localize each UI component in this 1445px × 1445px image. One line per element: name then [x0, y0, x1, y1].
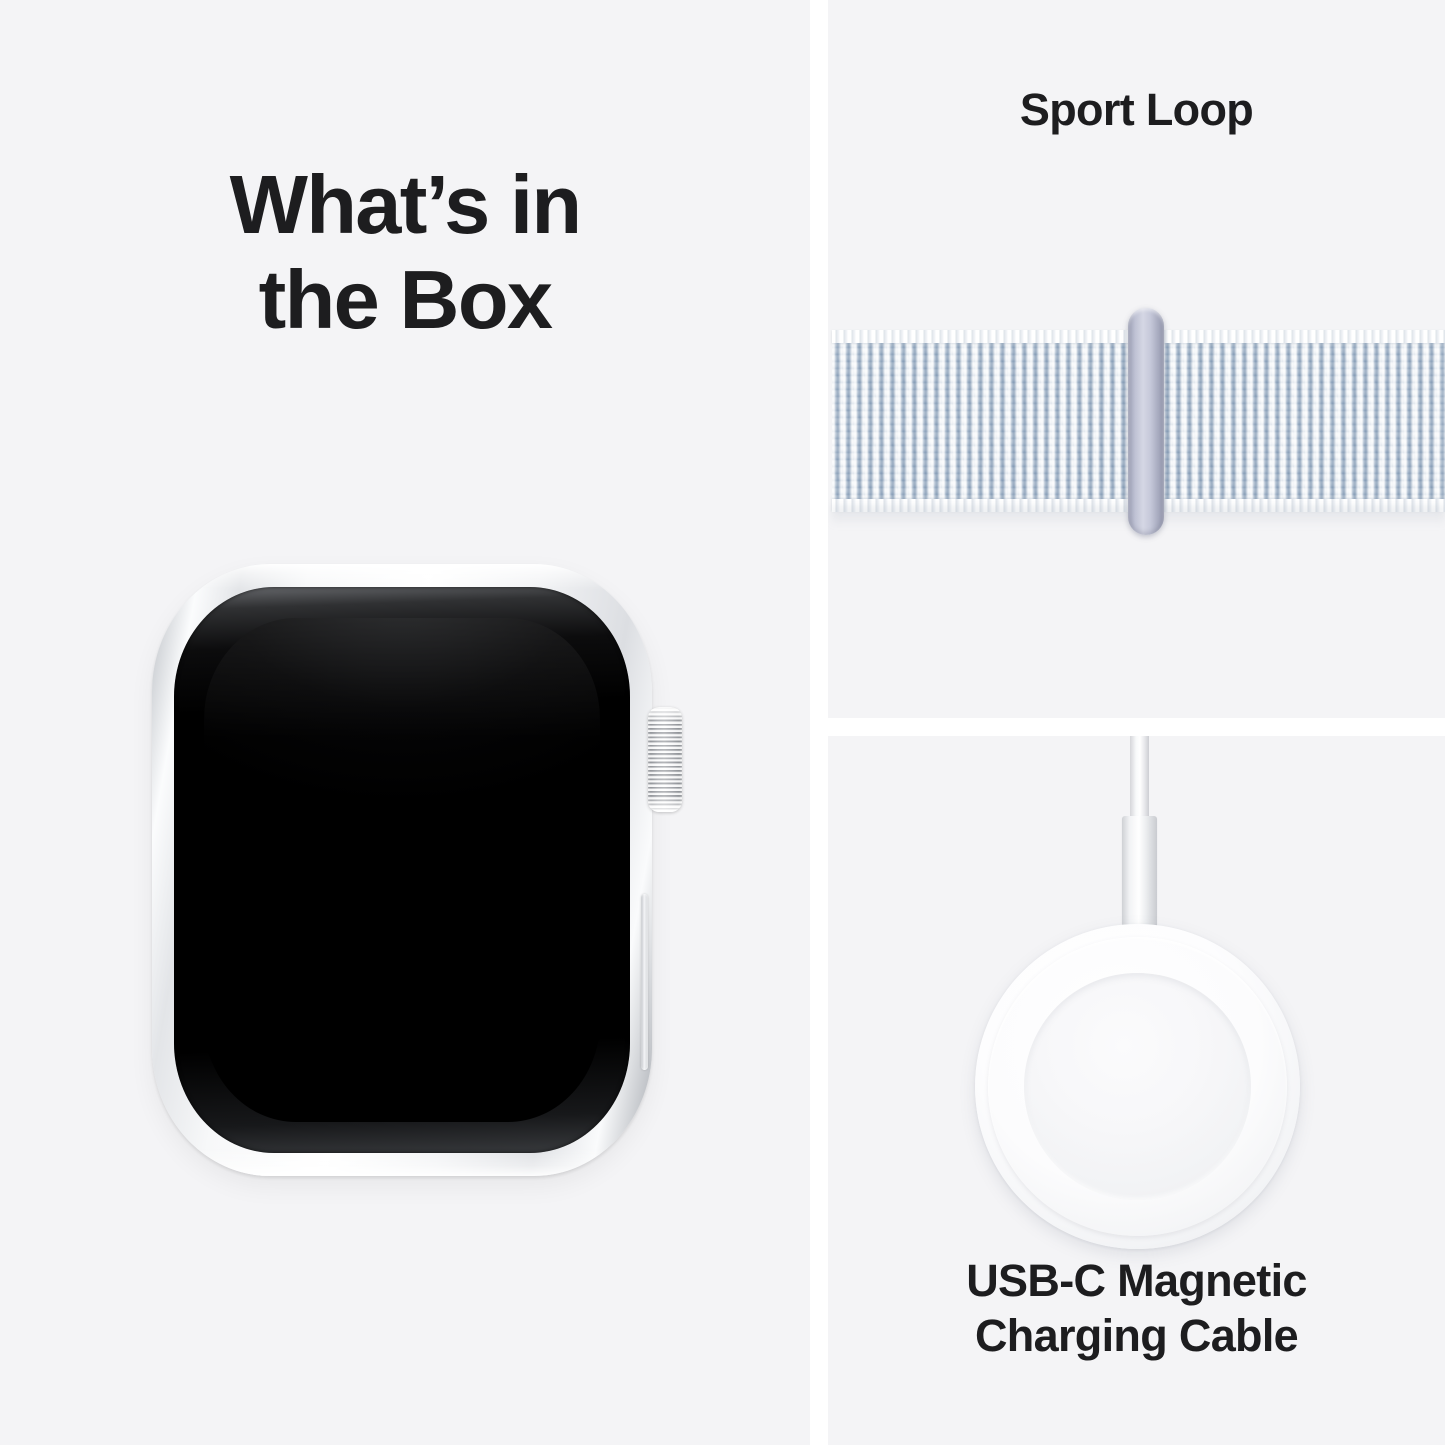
band-keeper-loop	[1128, 308, 1164, 535]
watch-side-button	[641, 894, 648, 1070]
apple-watch-illustration	[152, 564, 652, 1176]
panel-sport-loop: Sport Loop	[828, 0, 1445, 718]
watch-screen-glare	[204, 618, 600, 738]
digital-crown-icon	[648, 707, 682, 812]
sport-loop-title: Sport Loop	[828, 84, 1445, 135]
panel-charging-cable: USB-C Magnetic Charging Cable	[828, 736, 1445, 1445]
charging-cable-title: USB-C Magnetic Charging Cable	[828, 1254, 1445, 1364]
whats-in-the-box-layout: What’s in the Box Sport Loop	[0, 0, 1445, 1445]
panel-whats-in-the-box: What’s in the Box	[0, 0, 810, 1445]
charging-puck-outer-ring	[988, 937, 1287, 1236]
page-title: What’s in the Box	[60, 158, 750, 347]
charging-puck-inner-disc	[1024, 973, 1251, 1200]
charging-cable-cord	[1130, 736, 1149, 820]
charging-cable-strain-relief	[1122, 816, 1157, 938]
sport-loop-band-illustration	[832, 330, 1445, 512]
watch-bezel	[174, 587, 630, 1153]
digital-crown-highlight	[648, 707, 682, 812]
watch-display-screen	[204, 618, 600, 1122]
magnetic-charging-puck	[975, 924, 1300, 1249]
